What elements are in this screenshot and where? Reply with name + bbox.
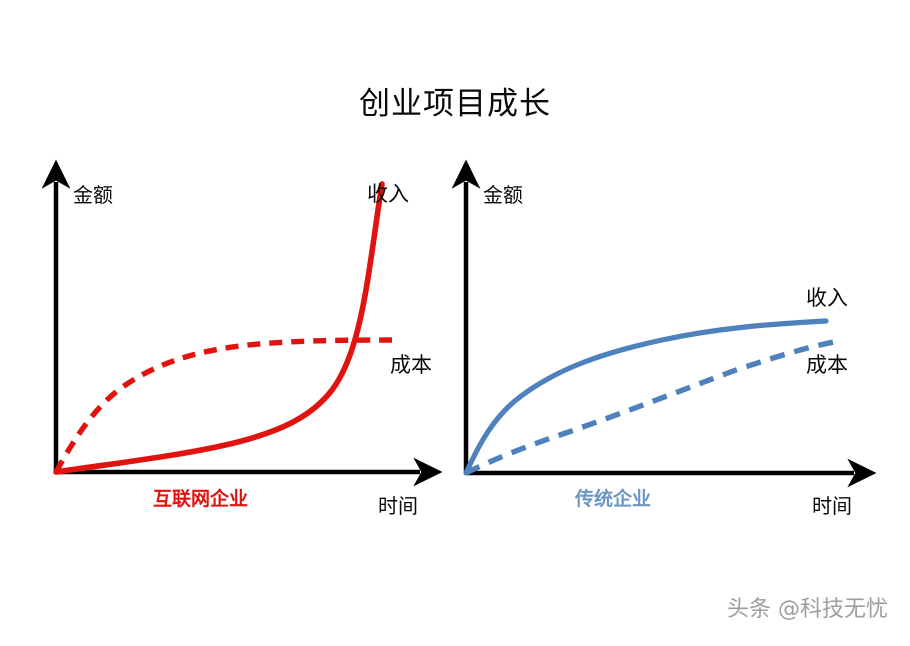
revenue-series-label: 收入 — [367, 181, 409, 207]
revenue-series-label: 收入 — [806, 285, 848, 311]
y-axis-label: 金额 — [483, 182, 523, 208]
x-axis-label: 时间 — [378, 493, 418, 519]
panel-traditional-enterprise: 金额 时间 收入 成本 传统企业 — [430, 160, 890, 540]
panel-caption-internet: 互联网企业 — [153, 487, 248, 511]
internet-enterprise-plot — [20, 160, 450, 540]
cost-series-label: 成本 — [806, 352, 848, 378]
traditional-enterprise-plot — [430, 160, 890, 540]
x-axis-label: 时间 — [812, 493, 852, 519]
panel-caption-traditional: 传统企业 — [575, 487, 651, 511]
chart-figure: 创业项目成长 金额 时间 收入 成本 互联网企业 — [0, 0, 910, 646]
cost-series-label: 成本 — [390, 352, 432, 378]
cost-curve-dashed — [56, 340, 392, 472]
y-axis-label: 金额 — [73, 182, 113, 208]
page-title: 创业项目成长 — [0, 84, 910, 124]
revenue-curve-solid — [56, 184, 382, 472]
cost-curve-dashed — [466, 342, 834, 473]
panel-internet-enterprise: 金额 时间 收入 成本 互联网企业 — [20, 160, 450, 540]
watermark: 头条 @科技无忧 — [727, 596, 888, 624]
